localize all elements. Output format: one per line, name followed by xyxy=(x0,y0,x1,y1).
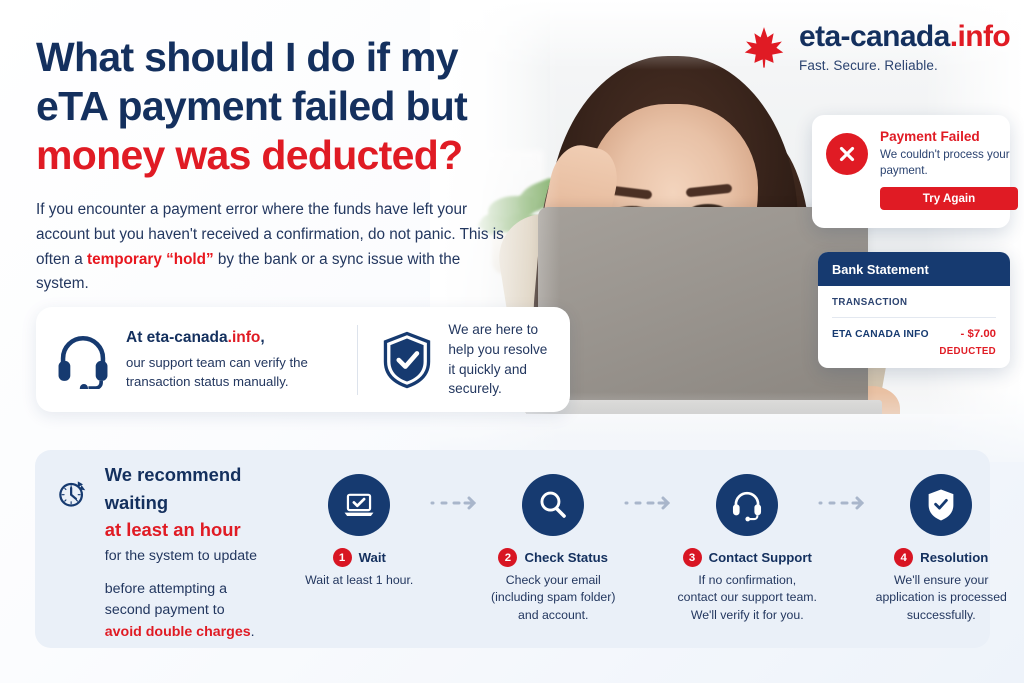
step-item-3: 3Contact Support If no confirmation, con… xyxy=(677,474,817,624)
maple-leaf-icon xyxy=(742,24,786,70)
recommendation-line-2: at least an hour xyxy=(105,516,258,544)
support-resolve-text: We are here to help you resolve it quick… xyxy=(448,320,552,399)
step-number: 2 xyxy=(498,548,517,567)
bank-statement-divider xyxy=(832,317,996,318)
payment-failed-card: Payment Failed We couldn't process your … xyxy=(812,115,1010,228)
recommendation-line-3: for the system to update xyxy=(105,546,258,567)
shield-check-icon xyxy=(925,488,957,522)
logo-wordmark: eta-canada.info xyxy=(799,22,1010,52)
table-row: ETA CANADA INFO - $7.00 xyxy=(832,328,996,340)
support-bold-prefix: At eta-canada xyxy=(126,329,228,346)
step-description: If no confirmation, contact our support … xyxy=(677,572,817,624)
logo-tagline: Fast. Secure. Reliable. xyxy=(799,59,1010,73)
payment-failed-message: We couldn't process your payment. xyxy=(880,147,1018,179)
headset-icon xyxy=(54,331,112,389)
step-description: Check your email (including spam folder)… xyxy=(483,572,623,624)
page-title: What should I do if my eTA payment faile… xyxy=(36,33,506,179)
status-badge: DEDUCTED xyxy=(832,346,996,357)
headline-line-1: What should I do if my xyxy=(36,34,458,80)
step-title: Resolution xyxy=(920,550,988,565)
step-title: Wait xyxy=(359,550,386,565)
dotted-arrow-right-icon xyxy=(623,474,677,515)
step-icon-circle xyxy=(716,474,778,536)
step-icon-circle xyxy=(328,474,390,536)
dotted-arrow-right-icon xyxy=(817,474,871,515)
transaction-name: ETA CANADA INFO xyxy=(832,329,929,340)
recommendation-line-4: before attempting a second payment to av… xyxy=(105,579,258,643)
steps-list: 1Wait Wait at least 1 hour. xyxy=(275,474,1024,624)
laptop-check-icon xyxy=(342,488,376,522)
recommendation-line-1: We recommend waiting xyxy=(105,461,258,516)
step-item-2: 2Check Status Check your email (includin… xyxy=(483,474,623,624)
headset-icon xyxy=(730,488,764,522)
bank-statement-card: Bank Statement TRANSACTION ETA CANADA IN… xyxy=(818,252,1010,368)
transaction-amount: - $7.00 xyxy=(961,328,996,340)
try-again-button[interactable]: Try Again xyxy=(880,187,1018,210)
support-card: At eta-canada.info, our support team can… xyxy=(36,307,570,412)
step-number: 4 xyxy=(894,548,913,567)
intro-paragraph: If you encounter a payment error where t… xyxy=(36,198,506,297)
support-verify-body: our support team can verify the transact… xyxy=(126,355,308,389)
step-title: Check Status xyxy=(524,550,608,565)
x-circle-icon xyxy=(826,133,868,175)
recommendation-block: We recommend waiting at least an hour fo… xyxy=(35,455,257,643)
step-item-4: 4Resolution We'll ensure your applicatio… xyxy=(871,474,1011,624)
step-description: Wait at least 1 hour. xyxy=(289,572,429,589)
dotted-arrow-right-icon xyxy=(429,474,483,515)
step-number: 3 xyxy=(683,548,702,567)
magnifier-icon xyxy=(536,488,570,522)
headline-line-3: money was deducted? xyxy=(36,131,506,180)
step-description: We'll ensure your application is process… xyxy=(871,572,1011,624)
infographic-canvas: eta-canada.info Fast. Secure. Reliable. … xyxy=(0,0,1024,683)
headline-line-2: eTA payment failed but xyxy=(36,83,467,129)
bank-statement-header: Bank Statement xyxy=(818,252,1010,286)
clock-refresh-icon xyxy=(57,455,87,533)
bank-statement-column-label: TRANSACTION xyxy=(832,297,996,308)
recommendation-panel: We recommend waiting at least an hour fo… xyxy=(35,450,990,648)
step-number: 1 xyxy=(333,548,352,567)
support-item-resolve: We are here to help you resolve it quick… xyxy=(358,320,570,399)
brand-logo[interactable]: eta-canada.info Fast. Secure. Reliable. xyxy=(742,22,1010,73)
step-icon-circle xyxy=(910,474,972,536)
payment-failed-title: Payment Failed xyxy=(880,129,1018,144)
shield-check-icon xyxy=(380,331,434,389)
intro-highlight: temporary “hold” xyxy=(87,251,214,268)
support-verify-text: At eta-canada.info, our support team can… xyxy=(126,327,339,392)
step-title: Contact Support xyxy=(709,550,812,565)
step-item-1: 1Wait Wait at least 1 hour. xyxy=(289,474,429,589)
support-item-verify: At eta-canada.info, our support team can… xyxy=(36,327,357,392)
step-icon-circle xyxy=(522,474,584,536)
